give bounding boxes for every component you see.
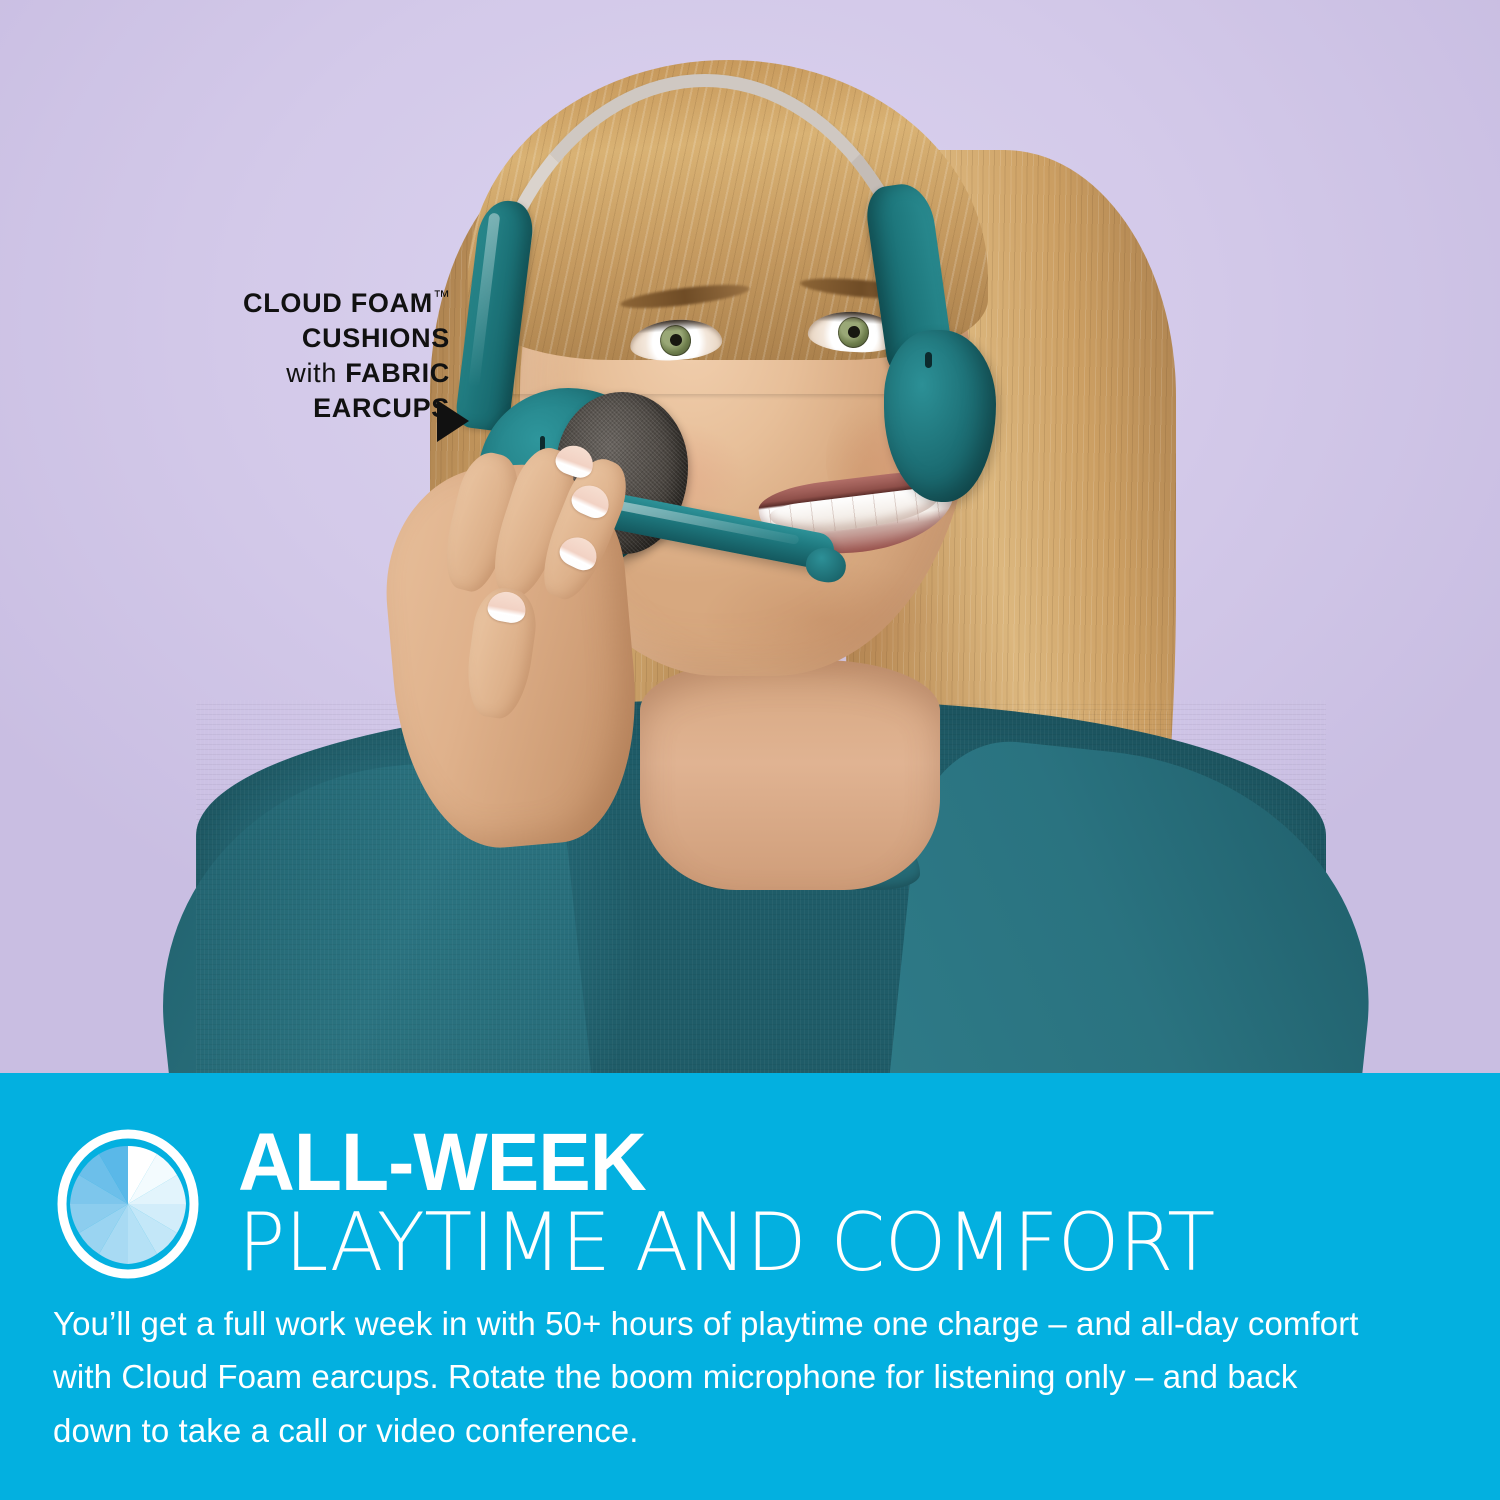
feature-description-text: You’ll get a full work week in with 50+ …	[53, 1297, 1383, 1457]
pinhole-mic-icon	[925, 352, 932, 368]
marketing-image: CLOUD FOAM™ CUSHIONS with FABRIC EARCUPS	[0, 0, 1500, 1500]
product-photo: CLOUD FOAM™ CUSHIONS with FABRIC EARCUPS	[0, 0, 1500, 1073]
trademark-symbol: ™	[433, 287, 450, 306]
callout-line-4: EARCUPS	[140, 391, 450, 426]
pie-clock-badge-icon	[55, 1128, 201, 1280]
headline-line-1: ALL-WEEK	[238, 1124, 1195, 1201]
callout-arrow-icon	[437, 400, 469, 442]
callout-line-3: with FABRIC	[140, 356, 450, 391]
feature-callout: CLOUD FOAM™ CUSHIONS with FABRIC EARCUPS	[140, 286, 450, 426]
neck	[640, 660, 940, 890]
headline-line-2: PLAYTIME AND COMFORT	[238, 1203, 1215, 1283]
callout-line-1: CLOUD FOAM™	[140, 286, 450, 321]
callout-line-2: CUSHIONS	[140, 321, 450, 356]
feature-description: You’ll get a full work week in with 50+ …	[53, 1297, 1383, 1457]
feature-headline: ALL-WEEK PLAYTIME AND COMFORT	[238, 1124, 1235, 1283]
